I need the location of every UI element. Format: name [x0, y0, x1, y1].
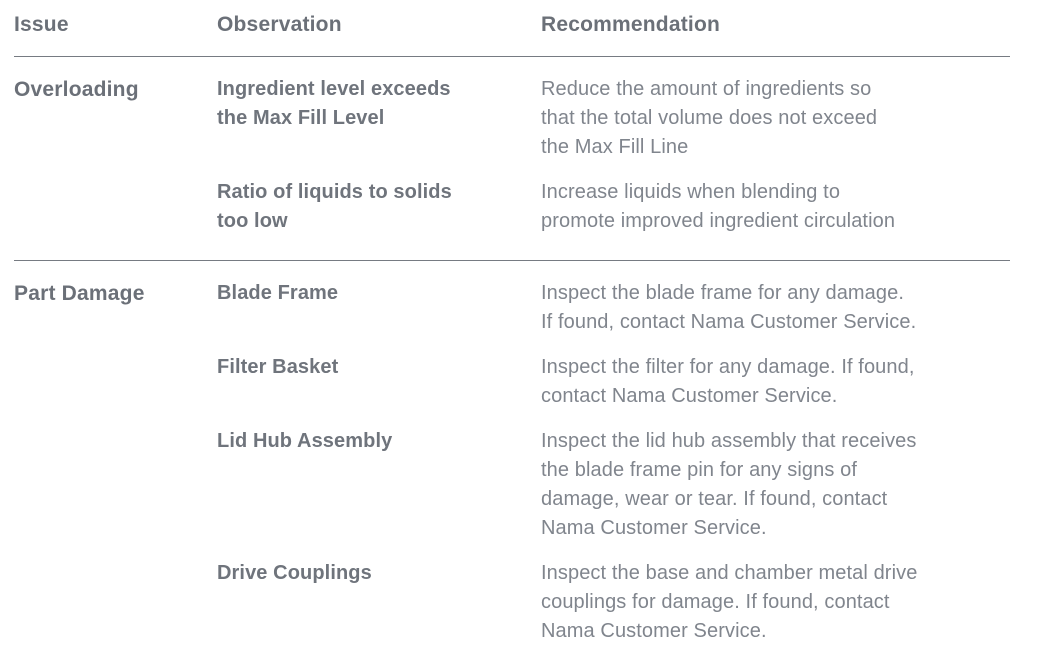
recommendation-text: Inspect the base and chamber metal drive… [541, 559, 1011, 646]
observation-text: Drive Couplings [217, 559, 541, 646]
table-row: Ratio of liquids to solids too low Incre… [0, 178, 1045, 236]
table-row: Part Damage Blade Frame Inspect the blad… [0, 279, 1045, 337]
observation-text: Filter Basket [217, 353, 541, 411]
recommendation-line: the blade frame pin for any signs of [541, 456, 993, 485]
troubleshooting-table: Issue Observation Recommendation Overloa… [0, 0, 1045, 655]
observation-line: Drive Couplings [217, 559, 523, 588]
column-header-issue: Issue [14, 10, 217, 40]
observation-line: Ratio of liquids to solids [217, 178, 523, 207]
issue-label-empty [14, 559, 217, 646]
observation-text: Lid Hub Assembly [217, 427, 541, 543]
observation-text: Ingredient level exceeds the Max Fill Le… [217, 75, 541, 162]
table-row: Lid Hub Assembly Inspect the lid hub ass… [0, 427, 1045, 543]
issue-label: Part Damage [14, 279, 217, 337]
issue-label-empty [14, 427, 217, 543]
recommendation-line: Nama Customer Service. [541, 514, 993, 543]
table-row: Filter Basket Inspect the filter for any… [0, 353, 1045, 411]
observation-line: Blade Frame [217, 279, 523, 308]
observation-line: the Max Fill Level [217, 104, 523, 133]
column-header-recommendation: Recommendation [541, 10, 1011, 40]
observation-line: Ingredient level exceeds [217, 75, 523, 104]
recommendation-line: If found, contact Nama Customer Service. [541, 308, 993, 337]
recommendation-text: Reduce the amount of ingredients so that… [541, 75, 1011, 162]
observation-line: Filter Basket [217, 353, 523, 382]
column-header-observation: Observation [217, 10, 541, 40]
observation-line: Lid Hub Assembly [217, 427, 523, 456]
recommendation-text: Inspect the lid hub assembly that receiv… [541, 427, 1011, 543]
observation-text: Ratio of liquids to solids too low [217, 178, 541, 236]
observation-text: Blade Frame [217, 279, 541, 337]
recommendation-line: damage, wear or tear. If found, contact [541, 485, 993, 514]
observation-line: too low [217, 207, 523, 236]
table-group-overloading: Overloading Ingredient level exceeds the… [0, 57, 1045, 236]
issue-label: Overloading [14, 75, 217, 162]
recommendation-line: couplings for damage. If found, contact [541, 588, 993, 617]
table-group-part-damage: Part Damage Blade Frame Inspect the blad… [0, 261, 1045, 646]
recommendation-text: Inspect the filter for any damage. If fo… [541, 353, 1011, 411]
recommendation-line: contact Nama Customer Service. [541, 382, 993, 411]
recommendation-text: Increase liquids when blending to promot… [541, 178, 1011, 236]
recommendation-line: Inspect the base and chamber metal drive [541, 559, 993, 588]
recommendation-line: the Max Fill Line [541, 133, 993, 162]
recommendation-line: Increase liquids when blending to [541, 178, 993, 207]
recommendation-line: Reduce the amount of ingredients so [541, 75, 993, 104]
issue-label-empty [14, 178, 217, 236]
issue-label-empty [14, 353, 217, 411]
recommendation-line: that the total volume does not exceed [541, 104, 993, 133]
table-row: Overloading Ingredient level exceeds the… [0, 75, 1045, 162]
table-header-row: Issue Observation Recommendation [0, 0, 1045, 40]
table-row: Drive Couplings Inspect the base and cha… [0, 559, 1045, 646]
recommendation-line: Inspect the filter for any damage. If fo… [541, 353, 993, 382]
recommendation-line: Inspect the lid hub assembly that receiv… [541, 427, 993, 456]
recommendation-text: Inspect the blade frame for any damage. … [541, 279, 1011, 337]
recommendation-line: Inspect the blade frame for any damage. [541, 279, 993, 308]
recommendation-line: promote improved ingredient circulation [541, 207, 993, 236]
recommendation-line: Nama Customer Service. [541, 617, 993, 646]
